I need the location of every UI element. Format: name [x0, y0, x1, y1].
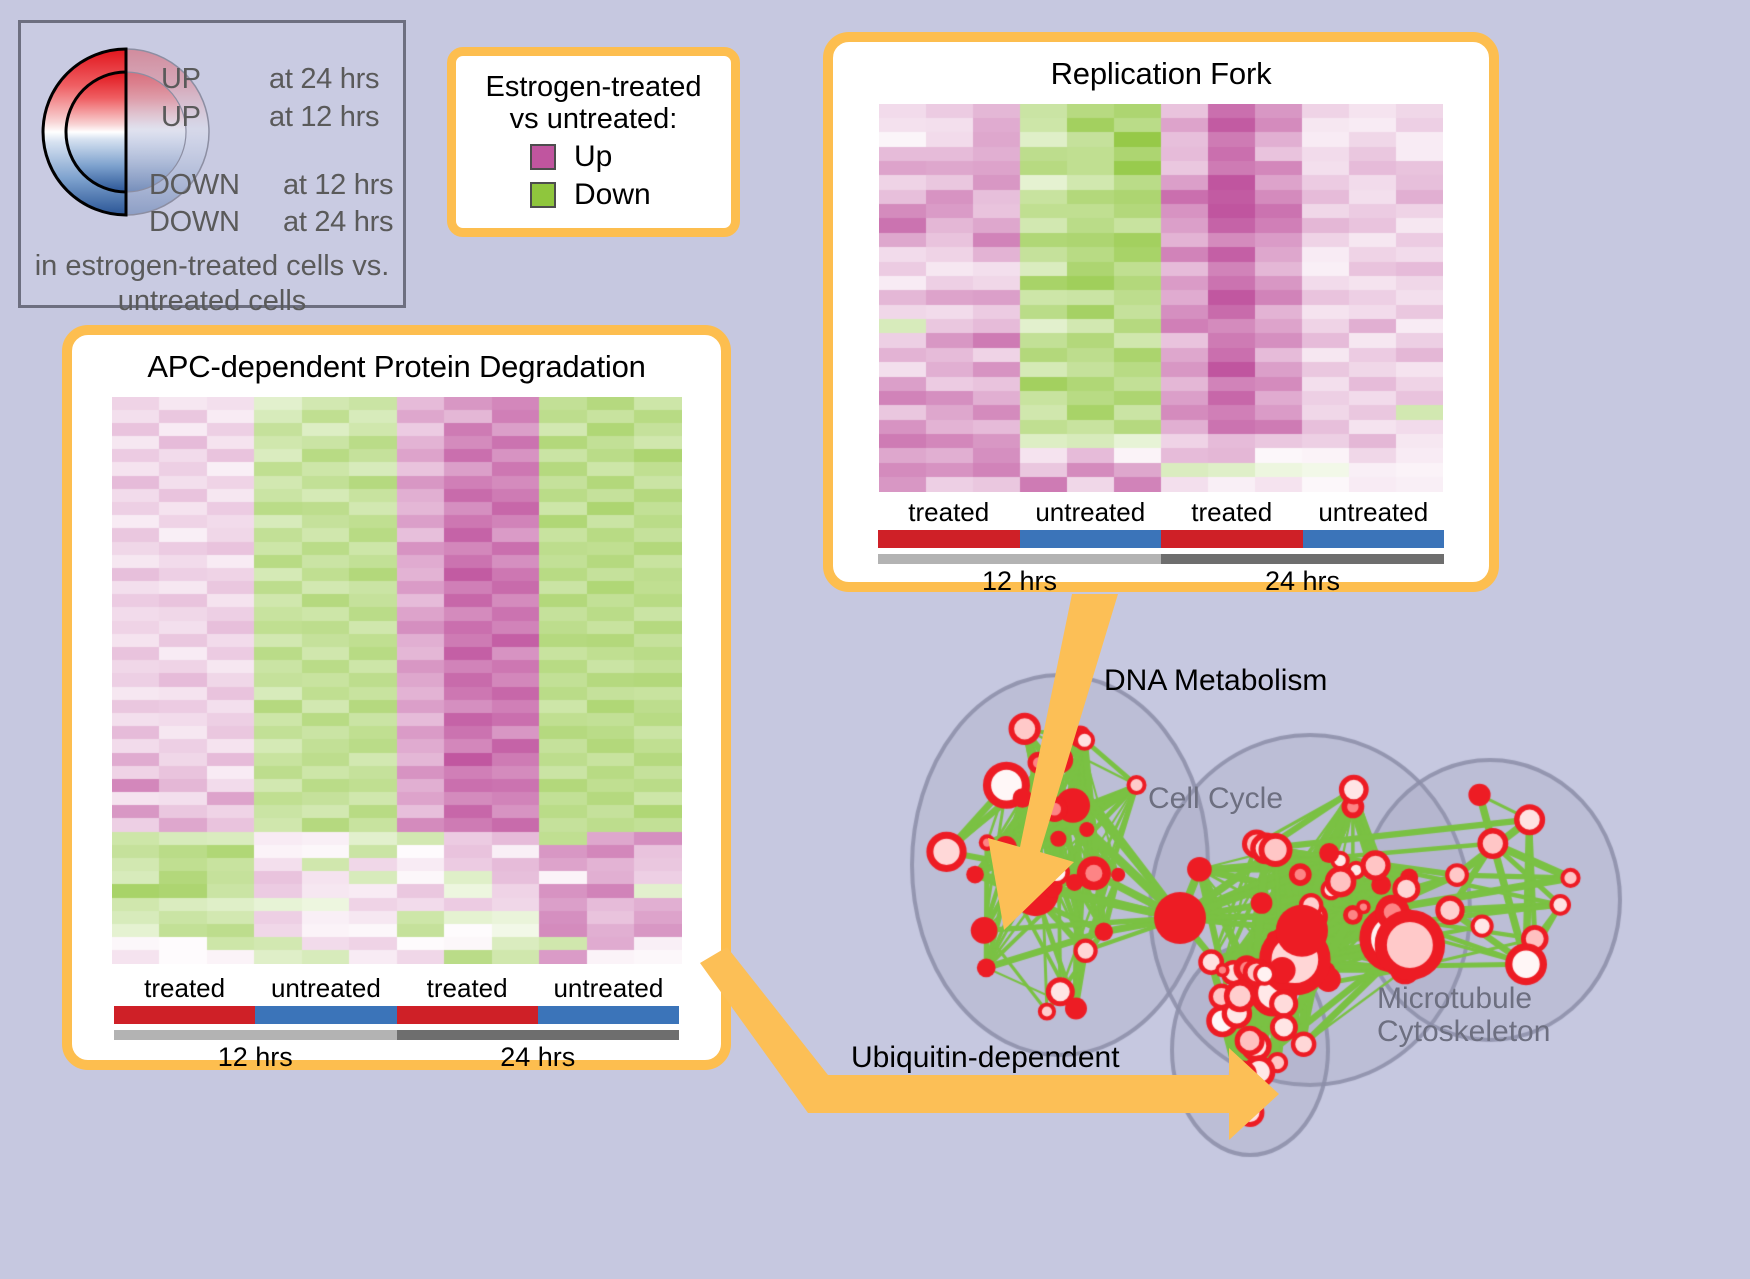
timepoint-bar-segment — [397, 1030, 680, 1040]
figure-canvas: UP at 24 hrs UP at 12 hrs DOWN at 12 hrs… — [0, 0, 1750, 1279]
key-label-down-12: DOWN — [149, 169, 240, 202]
cluster-label-dna-metabolism: DNA Metabolism — [1104, 664, 1327, 697]
panel-replication-fork: Replication Fork treated untreated treat… — [823, 32, 1499, 592]
condition-label: treated — [1161, 497, 1303, 528]
legend-label-up: Up — [574, 140, 612, 174]
timepoint-label: 12 hrs — [878, 566, 1161, 597]
condition-label: untreated — [1020, 497, 1162, 528]
condition-color-bar-replication — [878, 530, 1444, 548]
key-footer-text: in estrogen-treated cells vs. untreated … — [21, 249, 403, 320]
legend-title: Estrogen-treated vs untreated: — [456, 71, 731, 136]
condition-color-bar-apc — [114, 1006, 679, 1024]
legend-item-up: Up — [530, 140, 731, 174]
condition-bar-segment — [397, 1006, 538, 1024]
condition-bar-segment — [114, 1006, 255, 1024]
key-label-down-24: DOWN — [149, 206, 240, 239]
condition-label: treated — [878, 497, 1020, 528]
legend-swatch-down — [530, 182, 556, 208]
key-label-up-12: UP — [161, 101, 201, 134]
condition-bar-segment — [1020, 530, 1162, 548]
condition-bar-segment — [1161, 530, 1303, 548]
cluster-label-cell-cycle: Cell Cycle — [1148, 782, 1283, 815]
condition-label: untreated — [1303, 497, 1445, 528]
timepoint-color-bar-replication — [878, 554, 1444, 564]
color-key-box: UP at 24 hrs UP at 12 hrs DOWN at 12 hrs… — [18, 20, 406, 308]
key-label-down-24-time: at 24 hrs — [283, 206, 393, 239]
heatmap-apc-protein-degradation — [112, 397, 682, 964]
timepoint-bar-segment — [1161, 554, 1444, 564]
cluster-label-ubiquitin-degradation: Ubiquitin-dependent Protein Degradation — [851, 1041, 1120, 1107]
timepoint-labels-apc: 12 hrs 24 hrs — [114, 1042, 679, 1073]
key-label-up-24: UP — [161, 63, 201, 96]
key-label-down-12-time: at 12 hrs — [283, 169, 393, 202]
condition-label: treated — [114, 973, 255, 1004]
condition-bar-segment — [255, 1006, 396, 1024]
timepoint-labels-replication: 12 hrs 24 hrs — [878, 566, 1444, 597]
condition-labels-replication: treated untreated treated untreated — [878, 497, 1444, 528]
expression-legend-box: Estrogen-treated vs untreated: Up Down — [447, 47, 740, 237]
timepoint-bar-segment — [114, 1030, 397, 1040]
timepoint-label: 12 hrs — [114, 1042, 397, 1073]
legend-swatch-up — [530, 144, 556, 170]
timepoint-color-bar-apc — [114, 1030, 679, 1040]
panel-title-apc: APC-dependent Protein Degradation — [72, 349, 721, 385]
panel-title-replication-fork: Replication Fork — [833, 56, 1489, 92]
timepoint-bar-segment — [878, 554, 1161, 564]
timepoint-label: 24 hrs — [397, 1042, 680, 1073]
condition-label: untreated — [538, 973, 679, 1004]
cluster-label-microtubule-cytoskeleton: Microtubule Cytoskeleton — [1377, 982, 1550, 1048]
key-label-up-24-time: at 24 hrs — [269, 63, 379, 96]
condition-label: treated — [397, 973, 538, 1004]
condition-labels-apc: treated untreated treated untreated — [114, 973, 679, 1004]
condition-bar-segment — [1303, 530, 1445, 548]
key-label-up-12-time: at 12 hrs — [269, 101, 379, 134]
condition-bar-segment — [878, 530, 1020, 548]
panel-apc-protein-degradation: APC-dependent Protein Degradation treate… — [62, 325, 731, 1070]
heatmap-replication-fork — [879, 104, 1443, 492]
legend-item-down: Down — [530, 178, 731, 212]
pathway-network-graph — [790, 600, 1750, 1279]
condition-bar-segment — [538, 1006, 679, 1024]
timepoint-label: 24 hrs — [1161, 566, 1444, 597]
condition-label: untreated — [255, 973, 396, 1004]
legend-label-down: Down — [574, 178, 651, 212]
